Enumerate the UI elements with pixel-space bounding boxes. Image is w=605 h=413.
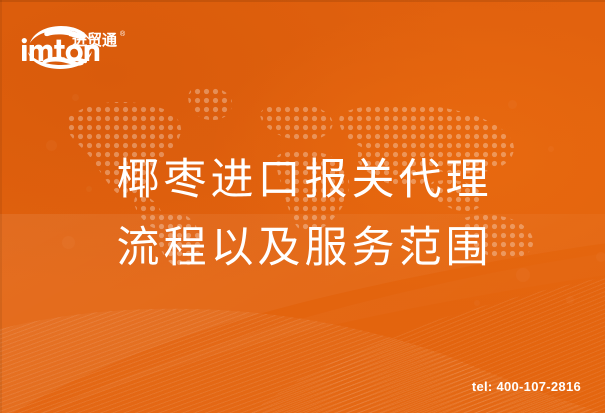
logo-chinese-name: 进贸通: [72, 33, 117, 48]
top-edge-line: [0, 0, 605, 2]
contact-telephone: tel: 400-107-2816: [472, 379, 581, 394]
title-line-2: 流程以及服务范围: [0, 214, 605, 282]
title-line-1: 椰枣进口报关代理: [0, 146, 605, 214]
page-title: 椰枣进口报关代理 流程以及服务范围: [0, 146, 605, 282]
registered-trademark-icon: ®: [120, 31, 125, 38]
promo-poster: 进贸通 ® 椰枣进口报关代理 流程以及服务范围 tel: 400-107-281…: [0, 0, 605, 413]
